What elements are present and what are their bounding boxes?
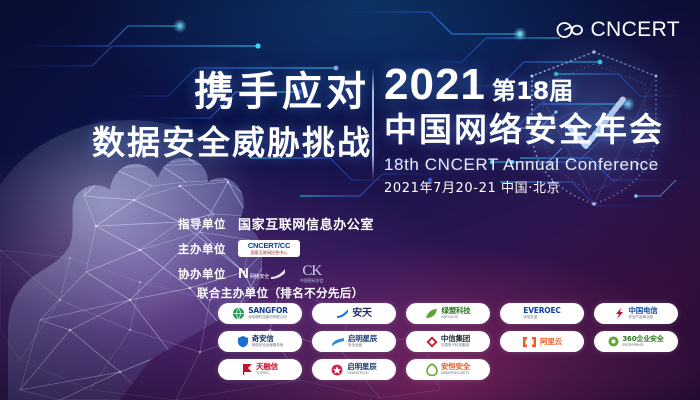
year-label: 2021	[384, 64, 486, 106]
organizer-row-host: 主办单位 CNCERT/CC 国家互联网应急中心	[150, 237, 580, 260]
sponsor-text: 奇安信 网络安全运营服务商	[252, 335, 283, 347]
sponsor-sub: NSFOCUS	[441, 316, 470, 320]
n-network-primary: N	[238, 267, 249, 280]
sponsor-text: 安恒安全 DBAPPSECURITY	[441, 363, 470, 375]
sponsor-name: 天融信	[256, 363, 278, 371]
conference-title-en: 18th CNCERT Annual Conference	[384, 156, 684, 173]
sponsor-name: 360企业安全	[622, 336, 663, 343]
sponsor-text: 中国电信 安全产品事业部	[628, 307, 657, 319]
shield-icon	[237, 335, 249, 348]
n-network-secondary: 网络安全	[250, 274, 269, 280]
sponsor-text: SANGFOR 深信服科技股份有限公司	[248, 307, 288, 319]
cncert-wordmark: CNCERT	[590, 18, 680, 42]
sponsor-text: 启明星辰 VENUSTECH	[347, 363, 376, 375]
sponsor-chip[interactable]: 360企业安全 ENTERPRISE	[594, 331, 678, 352]
headline: 携手应对 数据安全威胁挑战	[92, 72, 370, 159]
bracket-icon	[522, 336, 537, 348]
title-block: 2021 第18届 中国网络安全年会 18th CNCERT Annual Co…	[384, 64, 684, 195]
sponsor-sub: 安全运营	[348, 344, 377, 348]
organizer-value: 国家互联网信息办公室	[238, 214, 374, 233]
cncert-logo[interactable]: CNCERT	[555, 18, 680, 42]
diamond-icon	[426, 336, 438, 348]
sponsor-name: 中信集团	[441, 335, 470, 343]
conference-title-cn: 中国网络安全年会	[384, 113, 684, 146]
date-location: 2021年7月20-21 中国·北京	[384, 182, 684, 195]
swoosh-icon	[270, 268, 286, 280]
bolt-icon	[614, 307, 625, 320]
sponsor-name: 奇安信	[252, 335, 283, 343]
sponsor-chip[interactable]: 启明星辰 安全运营	[312, 331, 396, 352]
headline-line-1: 携手应对	[92, 72, 370, 112]
sponsor-text: 中信集团 中国电子科技集团	[441, 335, 470, 347]
star-icon	[331, 364, 344, 376]
cncert-cc-secondary: 国家互联网应急中心	[251, 250, 288, 255]
sponsor-chip[interactable]: SANGFOR 深信服科技股份有限公司	[218, 303, 302, 324]
sponsor-chip[interactable]: 天融信 TOPSEC	[218, 359, 302, 380]
sponsor-text: 启明星辰 安全运营	[348, 335, 377, 347]
sponsor-sub: 安全产品事业部	[628, 316, 657, 320]
sponsor-text: 绿盟科技 NSFOCUS	[441, 307, 470, 319]
sponsor-name: SANGFOR	[248, 307, 288, 315]
sponsor-name: 启明星辰	[348, 335, 377, 343]
organizer-logos: N 网络安全 CK 中国密码学会	[238, 264, 323, 283]
sponsor-chip[interactable]: 安恒安全 DBAPPSECURITY	[406, 359, 490, 380]
sponsor-chip[interactable]: 奇安信 网络安全运营服务商	[218, 331, 302, 352]
organizer-label: 协办单位	[150, 266, 226, 282]
sponsor-chip[interactable]: 中信集团 中国电子科技集团	[406, 331, 490, 352]
joint-sponsors-title: 联合主办单位（排名不分先后）	[197, 285, 364, 301]
sponsor-sub: 中国电子科技集团	[441, 344, 470, 348]
sponsor-sub: ENTERPRISE	[622, 344, 663, 348]
organizer-row-guidance: 指导单位 国家互联网信息办公室	[150, 212, 580, 235]
organizer-label: 指导单位	[150, 216, 226, 232]
n-network-logo[interactable]: N 网络安全	[238, 267, 286, 280]
globe-icon	[232, 307, 245, 320]
sponsor-sub: TOPSEC	[256, 372, 278, 376]
organizer-row-coorganizer: 协办单位 N 网络安全 CK 中国密码学会	[150, 262, 580, 285]
sponsor-text: 阿里云	[540, 338, 562, 346]
sponsor-chip[interactable]: 阿里云	[500, 331, 584, 352]
sponsor-chip[interactable]: 启明星辰 VENUSTECH	[312, 359, 396, 380]
sponsor-name: 绿盟科技	[441, 307, 470, 315]
ck-primary: CK	[302, 264, 321, 278]
sponsor-sub: VENUSTECH	[347, 372, 376, 376]
sponsor-chip[interactable]: 绿盟科技 NSFOCUS	[406, 303, 490, 324]
organizer-label: 主办单位	[150, 241, 226, 257]
sponsor-text: 安天	[352, 309, 372, 319]
sponsor-name: 安恒安全	[441, 363, 470, 371]
year-row: 2021 第18届	[384, 64, 684, 106]
sponsor-name: EVEROEC	[523, 307, 560, 315]
ring-icon	[426, 363, 438, 376]
cncert-cc-primary: CNCERT/CC	[248, 242, 290, 250]
flag-icon	[242, 363, 253, 376]
ck-cryptography-logo[interactable]: CK 中国密码学会	[300, 264, 323, 283]
leaf-icon	[425, 308, 438, 320]
sponsor-name: 阿里云	[540, 338, 562, 346]
organizers: 指导单位 国家互联网信息办公室 主办单位 CNCERT/CC 国家互联网应急中心…	[150, 212, 580, 287]
headline-line-2: 数据安全威胁挑战	[92, 126, 370, 159]
wave-icon	[331, 337, 345, 347]
sponsor-name: 启明星辰	[347, 363, 376, 371]
ck-secondary: 中国密码学会	[300, 278, 323, 283]
poster-canvas: CNCERT 携手应对 数据安全威胁挑战 2021 第18届 中国网络安全年会 …	[0, 0, 700, 400]
sponsor-chip[interactable]: 安天	[312, 303, 396, 324]
sponsor-name: 中国电信	[628, 307, 657, 315]
cncert-infinity-icon	[555, 19, 585, 41]
sponsor-chip[interactable]: EVEROEC 永信至诚	[500, 303, 584, 324]
swoosh-icon	[336, 308, 349, 319]
sponsor-sub: DBAPPSECURITY	[441, 372, 470, 376]
headline-divider	[372, 68, 374, 180]
sponsor-sub: 永信至诚	[523, 316, 560, 320]
session-label: 第18届	[492, 79, 573, 106]
sponsor-chip[interactable]: 中国电信 安全产品事业部	[594, 303, 678, 324]
dot-icon	[608, 336, 619, 347]
sponsor-sub: 网络安全运营服务商	[252, 344, 283, 348]
sponsor-text: 天融信 TOPSEC	[256, 363, 278, 375]
joint-sponsors-grid: SANGFOR 深信服科技股份有限公司 安天 绿盟科技 NSFOCUS EVE	[218, 303, 682, 380]
organizer-logos: CNCERT/CC 国家互联网应急中心	[238, 240, 300, 257]
sponsor-text: EVEROEC 永信至诚	[523, 307, 560, 319]
sponsor-text: 360企业安全 ENTERPRISE	[622, 336, 663, 348]
sponsor-sub: 深信服科技股份有限公司	[248, 316, 288, 320]
cncert-cc-logo[interactable]: CNCERT/CC 国家互联网应急中心	[238, 240, 300, 257]
sponsor-name: 安天	[352, 309, 372, 319]
